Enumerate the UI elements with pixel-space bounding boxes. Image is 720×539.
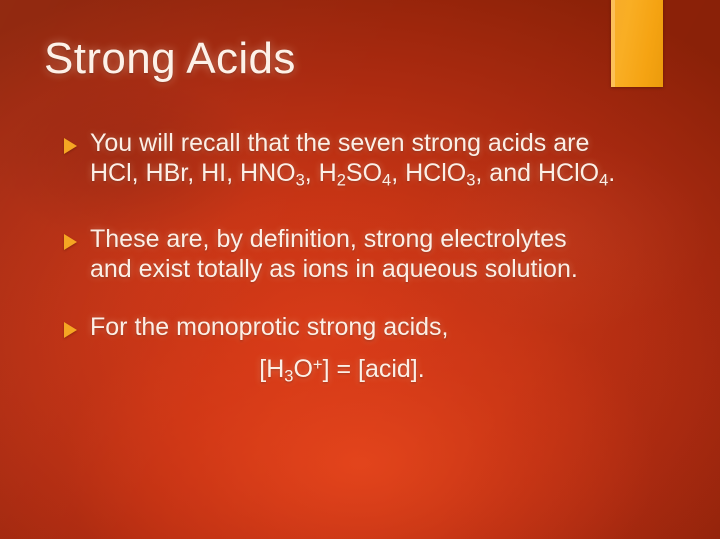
formula-mid-3: , HClO [391,159,466,187]
bullet-1-formula: HCl, HBr, HI, HNO3, H2SO4, HClO3, and HC… [90,159,615,187]
triangle-right-bullet-icon [64,234,77,250]
bullet-item-1: You will recall that the seven strong ac… [58,128,678,196]
equation-charge-superscript: + [313,356,323,374]
formula-sub-1: 3 [296,172,305,190]
accent-rectangle-icon [611,0,663,87]
formula-sub-3: 4 [382,172,391,190]
bullet-2-line-2: and exist totally as ions in aqueous sol… [90,255,578,283]
formula-lead: HCl, HBr, HI, HNO [90,159,296,187]
equation-line: [H3O+] = [acid]. [90,350,678,392]
triangle-right-bullet-icon [64,322,77,338]
equation-close-bracket: ] = [acid]. [323,355,425,383]
equation-open-bracket: [H [259,355,284,383]
formula-sub-5: 4 [599,172,608,190]
bullet-item-2: These are, by definition, strong electro… [58,224,678,284]
formula-mid-2: SO [346,159,382,187]
page-title: Strong Acids [44,34,296,84]
bullet-3-text: For the monoprotic strong acids, [90,312,678,342]
bullet-3-line-1: For the monoprotic strong acids, [90,313,449,341]
formula-sub-2: 2 [337,172,346,190]
slide-canvas: Strong Acids You will recall that the se… [0,0,720,539]
bullet-1-line-1: You will recall that the seven strong ac… [90,129,589,157]
bullet-2-line-1: These are, by definition, strong electro… [90,225,567,253]
equation-oxygen: O [293,355,312,383]
bullet-item-3: For the monoprotic strong acids, [H3O+] … [58,312,678,392]
formula-mid-4: , and HClO [475,159,599,187]
bullet-2-text: These are, by definition, strong electro… [90,224,678,284]
triangle-right-bullet-icon [64,138,77,154]
bullet-1-text: You will recall that the seven strong ac… [90,128,678,196]
formula-mid-1: , H [305,159,337,187]
slide-body: You will recall that the seven strong ac… [58,128,678,391]
formula-tail: . [608,159,615,187]
